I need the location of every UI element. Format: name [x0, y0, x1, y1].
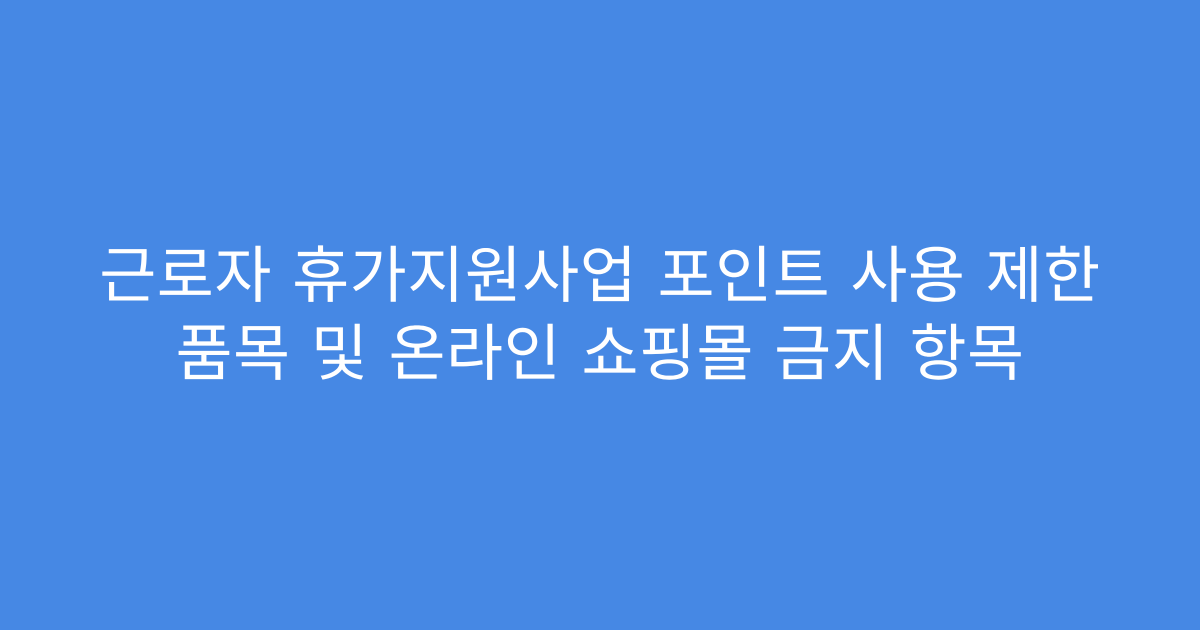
page-title: 근로자 휴가지원사업 포인트 사용 제한 품목 및 온라인 쇼핑몰 금지 항목 [96, 237, 1104, 393]
share-card-canvas: 근로자 휴가지원사업 포인트 사용 제한 품목 및 온라인 쇼핑몰 금지 항목 [0, 0, 1200, 630]
